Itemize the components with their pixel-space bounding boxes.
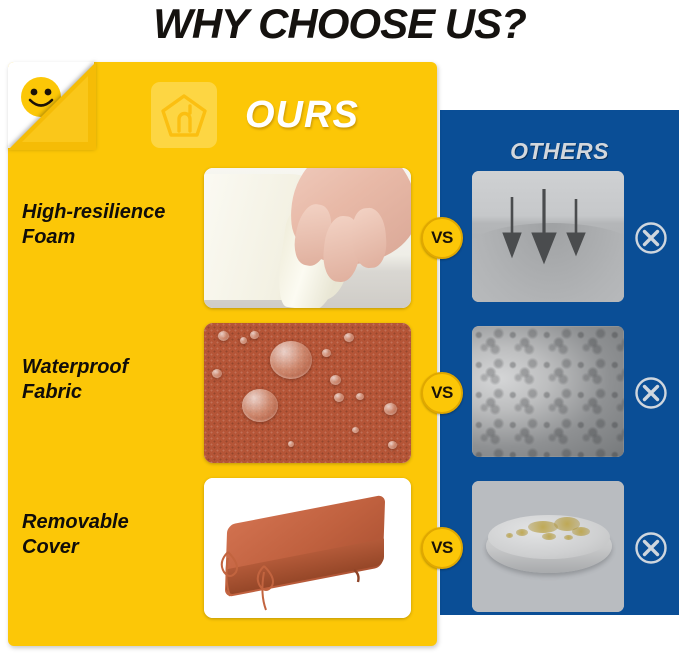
others-image-dirty-cushion	[472, 481, 624, 612]
ours-heading: OURS	[245, 94, 359, 137]
ours-image-cushion	[204, 478, 411, 618]
others-image-compression	[472, 171, 624, 302]
vs-badge: VS	[421, 527, 463, 569]
others-image-wet-fabric	[472, 326, 624, 457]
compression-arrows-icon	[472, 171, 624, 302]
feature-label-removable-cover: Removable Cover	[22, 510, 200, 560]
feature-label-waterproof: Waterproof Fabric	[22, 355, 200, 405]
peel-fold-highlight	[22, 76, 88, 142]
ours-image-waterproof	[204, 323, 411, 463]
cushion-tie-straps-icon	[204, 478, 411, 618]
brand-logo-tile	[151, 82, 217, 148]
x-circle-icon	[634, 531, 668, 565]
x-circle-icon	[634, 221, 668, 255]
x-circle-icon	[634, 376, 668, 410]
feature-label-foam: High-resilience Foam	[22, 200, 200, 250]
feature-row: Waterproof Fabric VS	[0, 323, 679, 463]
ours-image-foam	[204, 168, 411, 308]
vs-badge: VS	[421, 217, 463, 259]
page-title: WHY CHOOSE US?	[0, 0, 679, 47]
house-pentagon-icon	[160, 91, 208, 139]
feature-row: Removable Cover VS	[0, 478, 679, 618]
vs-badge: VS	[421, 372, 463, 414]
feature-row: High-resilience Foam VS	[0, 168, 679, 308]
others-heading: OTHERS	[440, 138, 679, 165]
ours-header: OURS	[151, 82, 359, 148]
